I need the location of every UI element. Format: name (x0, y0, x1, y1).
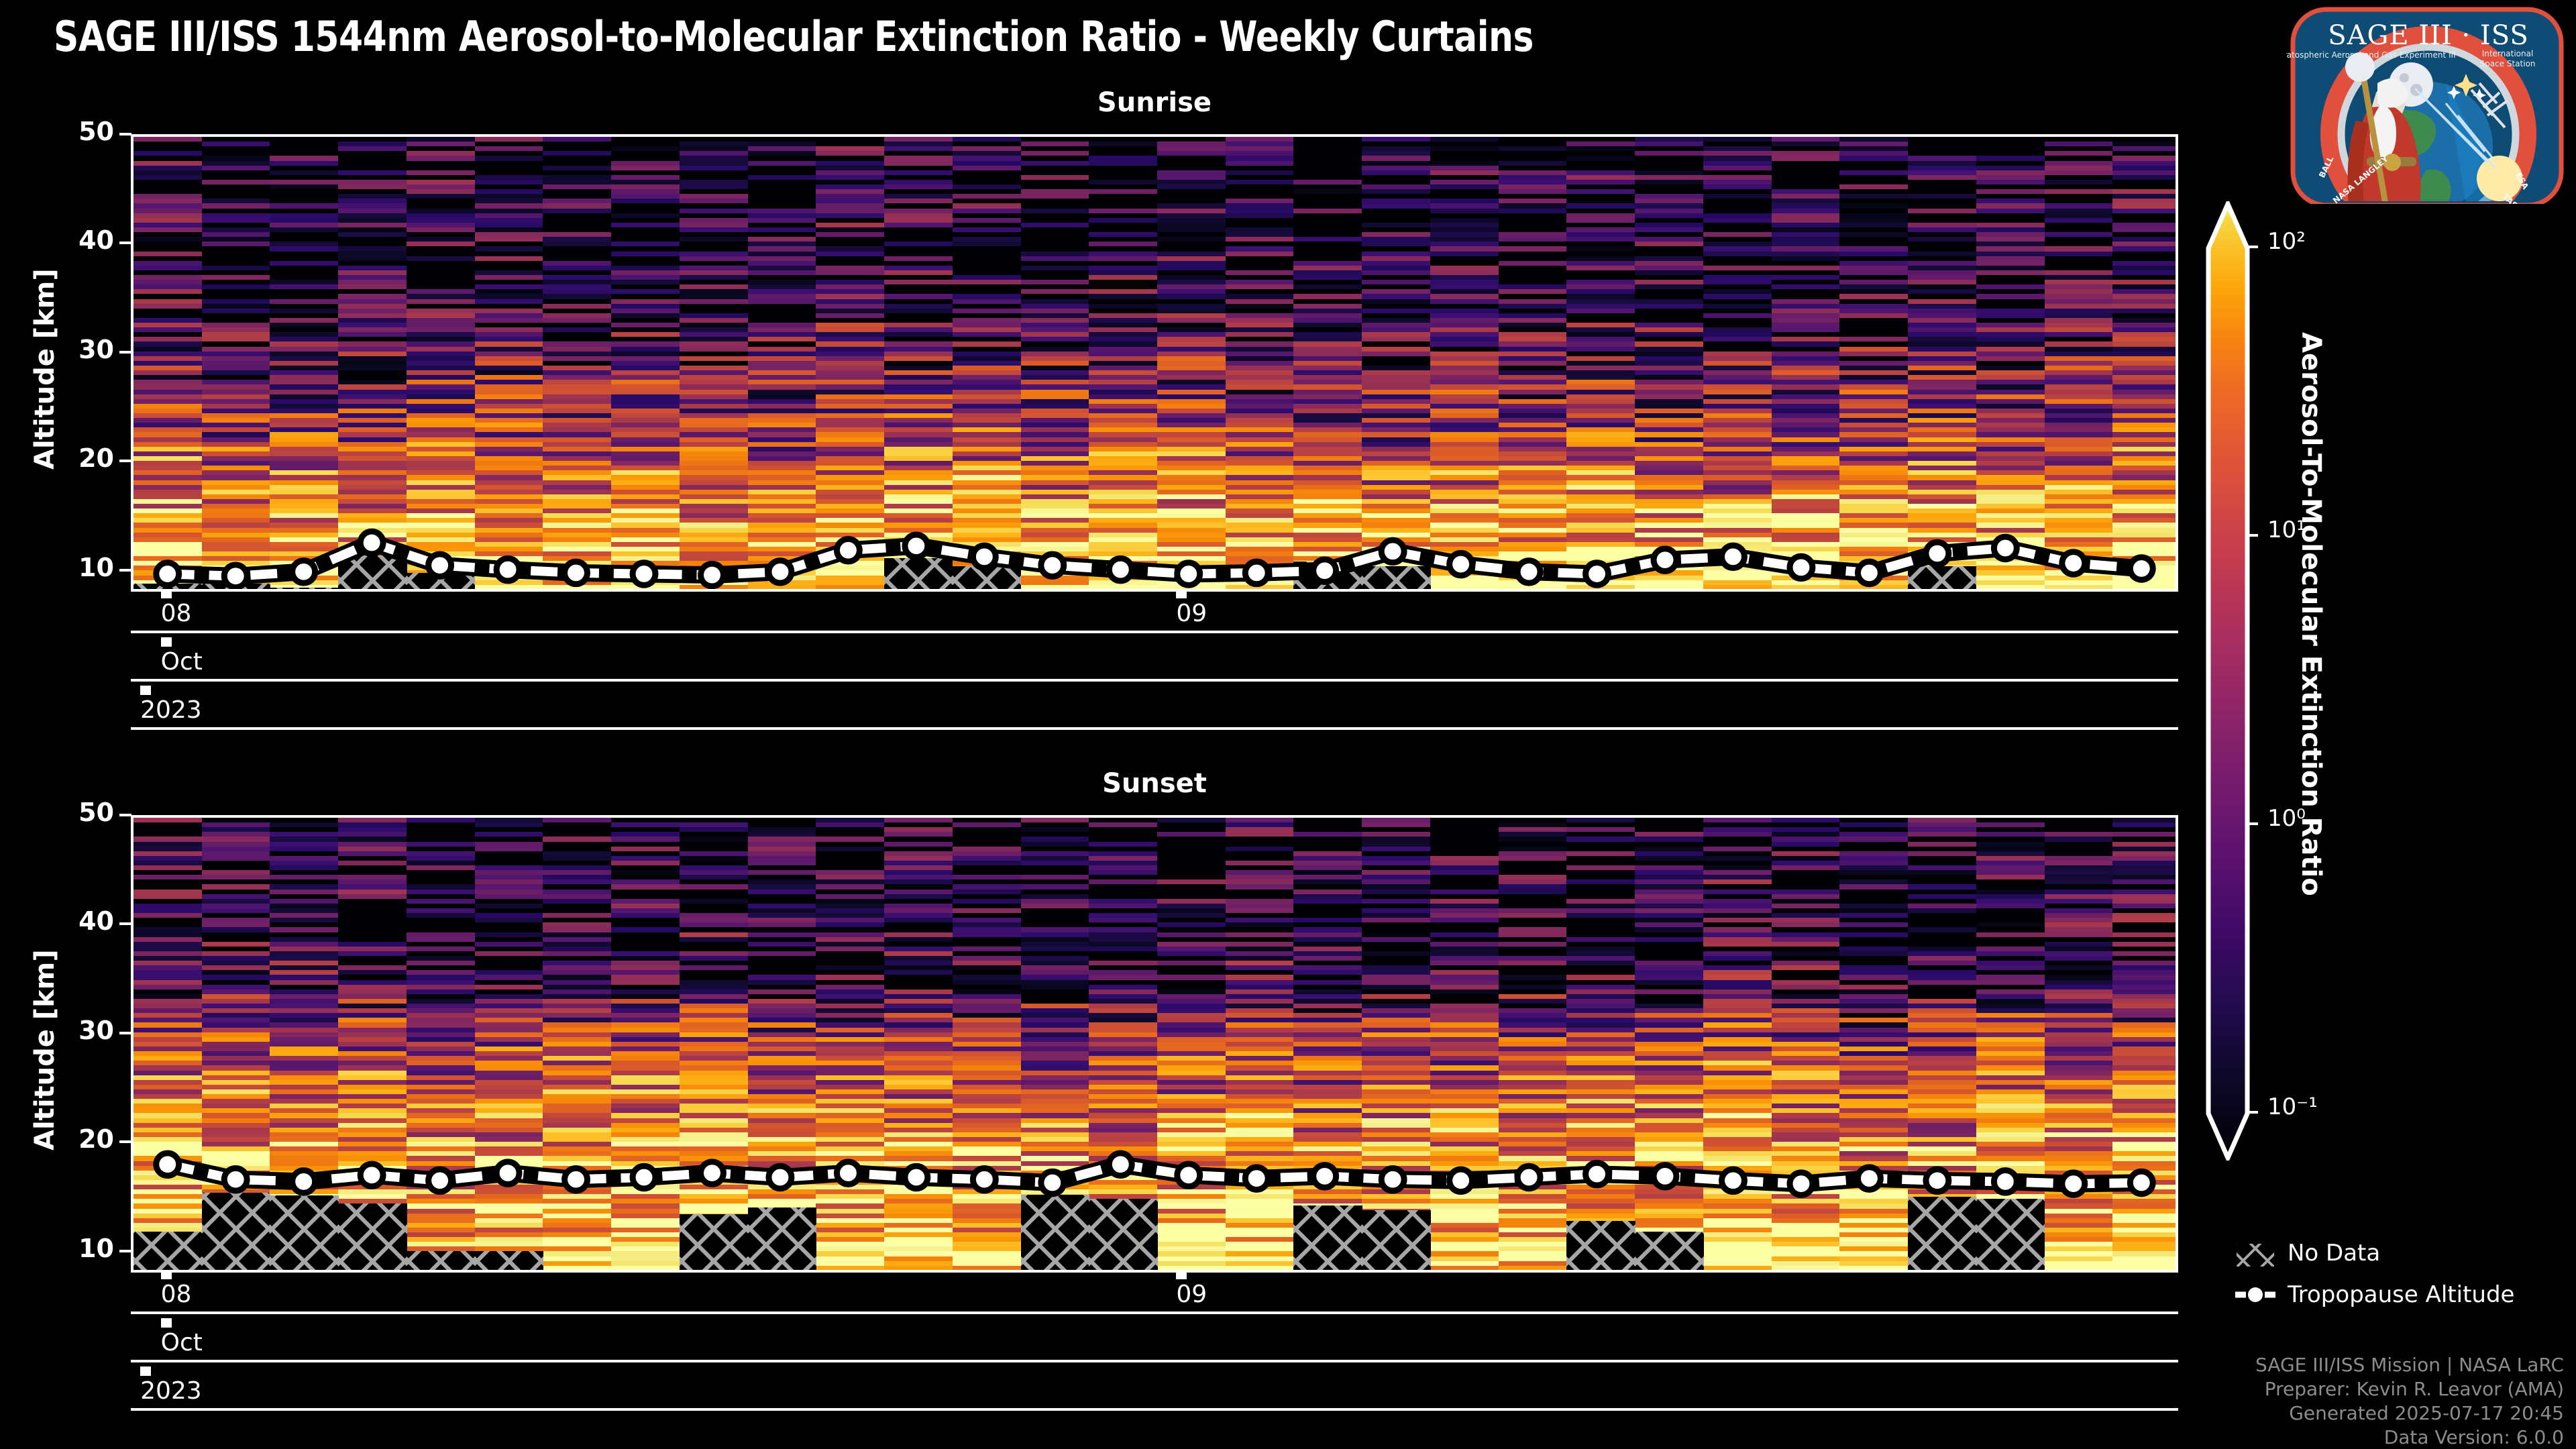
sage-iii-iss-logo: BALL NASA LANGLEY ESA TAS-I SAGE III · I… (2286, 3, 2568, 204)
heatmap-column (133, 137, 202, 589)
heatmap-column (1635, 137, 1703, 589)
heatmap-cell (407, 1271, 475, 1273)
no-data-block (407, 573, 475, 592)
heatmap-column (680, 137, 748, 589)
heatmap-column (816, 137, 884, 589)
heatmap-cell (2112, 590, 2178, 592)
heatmap-cell (953, 590, 1021, 592)
no-data-block (202, 584, 270, 592)
heatmap-column (1430, 137, 1499, 589)
heatmap-cell (611, 1266, 680, 1271)
heatmap-cell (748, 1271, 816, 1273)
figure-canvas: SAGE III/ISS 1544nm Aerosol-to-Molecular… (0, 0, 2576, 1449)
heatmap-column (1226, 137, 1294, 589)
heatmap-column (2112, 137, 2178, 589)
heatmap-cell (611, 590, 680, 592)
heatmap-cell (543, 1266, 611, 1271)
heatmap-column (1157, 818, 1226, 1270)
heatmap-cell (475, 590, 543, 592)
no-data-block (1362, 566, 1430, 592)
heatmap-column (953, 137, 1021, 589)
heatmap-column (1499, 818, 1567, 1270)
heatmap-column (1021, 137, 1089, 589)
heatmap-cell (1976, 590, 2045, 592)
heatmap-column (884, 818, 953, 1270)
heatmap-column (1089, 137, 1157, 589)
x-axis-tick-label-day: 09 (1176, 600, 1207, 627)
heatmap-cell (1976, 585, 2045, 590)
heatmap-cell (1226, 1266, 1294, 1271)
heatmap-cell (407, 590, 475, 592)
heatmap-cell (1566, 585, 1635, 590)
heatmap-column (475, 818, 543, 1270)
heatmap-column (1293, 818, 1362, 1270)
heatmap-cell (1226, 590, 1294, 592)
x-axis-tickmark (1176, 589, 1187, 598)
heatmap-cell (338, 1271, 407, 1273)
heatmap-cell (475, 1271, 543, 1273)
heatmap-column (543, 137, 611, 589)
heatmap-cell (1635, 585, 1703, 590)
heatmap-column (1703, 137, 1772, 589)
heatmap-cell (1908, 590, 1976, 592)
heatmap-cell (1089, 590, 1157, 592)
heatmap-cell (2112, 585, 2178, 590)
heatmap-column (407, 818, 475, 1270)
heatmap-column (270, 137, 338, 589)
no-data-block (270, 588, 338, 592)
heatmap-cell (202, 1271, 270, 1273)
heatmap-column (1293, 137, 1362, 589)
no-data-block (1293, 561, 1362, 592)
heatmap-cell (1635, 590, 1703, 592)
heatmap-cell (1703, 585, 1772, 590)
heatmap-cell (1362, 590, 1430, 592)
heatmap-column (680, 818, 748, 1270)
heatmap-cell (816, 585, 884, 590)
heatmap-cell (1839, 590, 1908, 592)
heatmap-column (1430, 818, 1499, 1270)
heatmap-cell (1226, 1271, 1294, 1273)
heatmap-cell (611, 1271, 680, 1273)
heatmap-cell (1157, 590, 1226, 592)
heatmap-cell (884, 590, 953, 592)
heatmap-cell (1293, 590, 1362, 592)
heatmap-cell (2045, 585, 2113, 590)
heatmap-column (338, 818, 407, 1270)
heatmap-cell (884, 1271, 953, 1273)
x-axis-level-rule (131, 631, 2178, 633)
heatmap-cell (1157, 1266, 1226, 1271)
heatmap-cell (953, 1271, 1021, 1273)
no-data-block (953, 566, 1021, 592)
heatmap-column (611, 137, 680, 589)
x-axis-level-rule (131, 679, 2178, 682)
heatmap-column (1908, 137, 1976, 589)
heatmap-column (1362, 818, 1430, 1270)
heatmap-column (748, 818, 816, 1270)
x-axis-tickmark (140, 686, 151, 695)
heatmap-sunset[interactable] (131, 815, 2178, 1273)
heatmap-cell (1430, 1266, 1499, 1271)
heatmap-cell (1499, 590, 1567, 592)
heatmap-cell (475, 585, 543, 590)
heatmap-cell (1430, 1271, 1499, 1273)
heatmap-cell (1089, 1271, 1157, 1273)
heatmap-column (884, 137, 953, 589)
heatmap-cell (1430, 585, 1499, 590)
heatmap-column (1566, 137, 1635, 589)
heatmap-cell (884, 1266, 953, 1271)
x-axis-tickmark (161, 589, 172, 598)
y-axis-label-sunrise: Altitude [km] (30, 268, 60, 470)
heatmap-column (1362, 137, 1430, 589)
heatmap-cell (1021, 585, 1089, 590)
x-axis-level-rule (131, 727, 2178, 730)
heatmap-column (2045, 137, 2113, 589)
heatmap-cell (953, 1266, 1021, 1271)
heatmap-cell (1157, 585, 1226, 590)
no-data-block (338, 555, 407, 592)
heatmap-cell (1499, 585, 1567, 590)
heatmap-cell (1772, 590, 1840, 592)
heatmap-column (953, 818, 1021, 1270)
y-axis-label-sunset: Altitude [km] (30, 949, 60, 1150)
heatmap-cell (1772, 585, 1840, 590)
no-data-block (1908, 566, 1976, 592)
heatmap-cell (1566, 590, 1635, 592)
heatmap-cell (680, 590, 748, 592)
heatmap-cell (1703, 590, 1772, 592)
heatmap-sunrise[interactable] (131, 134, 2178, 592)
panel-title-sunset: Sunset (131, 768, 2178, 799)
heatmap-cell (543, 1271, 611, 1273)
heatmap-cell (1089, 585, 1157, 590)
heatmap-column (202, 137, 270, 589)
heatmap-cell (816, 590, 884, 592)
panel-title-sunrise: Sunrise (131, 87, 2178, 118)
heatmap-cell (543, 590, 611, 592)
heatmap-column (475, 137, 543, 589)
x-axis-tick-label-day: 08 (161, 600, 192, 627)
heatmap-cell (1021, 1271, 1089, 1273)
heatmap-column (748, 137, 816, 589)
heatmap-cell (1362, 1271, 1430, 1273)
heatmap-cells-sunrise (133, 137, 2176, 589)
heatmap-column (1976, 137, 2045, 589)
heatmap-cell (1839, 585, 1908, 590)
heatmap-cell (748, 585, 816, 590)
x-axis-tick-label-month: Oct (161, 648, 203, 676)
heatmap-column (1499, 137, 1567, 589)
heatmap-column (133, 818, 202, 1270)
page-title: SAGE III/ISS 1544nm Aerosol-to-Molecular… (54, 12, 1738, 59)
heatmap-cell (611, 585, 680, 590)
heatmap-column (611, 818, 680, 1270)
heatmap-column (338, 137, 407, 589)
heatmap-cell (338, 590, 407, 592)
heatmap-cell (1293, 1271, 1362, 1273)
heatmap-cell (748, 590, 816, 592)
heatmap-cell (1226, 585, 1294, 590)
heatmap-cell (270, 590, 338, 592)
heatmap-cell (1430, 590, 1499, 592)
heatmap-cell (1021, 590, 1089, 592)
heatmap-column (407, 137, 475, 589)
x-axis-tick-label-year: 2023 (140, 696, 202, 724)
heatmap-cell (680, 1271, 748, 1273)
heatmap-column (1772, 137, 1840, 589)
heatmap-cell (816, 1266, 884, 1271)
heatmap-cell (2045, 590, 2113, 592)
heatmap-column (1839, 137, 1908, 589)
heatmap-column (543, 818, 611, 1270)
heatmap-cell (270, 1271, 338, 1273)
heatmap-cell (543, 585, 611, 590)
heatmap-cell (680, 585, 748, 590)
heatmap-column (816, 818, 884, 1270)
heatmap-column (1226, 818, 1294, 1270)
no-data-block (884, 558, 953, 592)
heatmap-cell (816, 1271, 884, 1273)
heatmap-cell (202, 590, 270, 592)
heatmap-column (1157, 137, 1226, 589)
heatmap-cell (1157, 1271, 1226, 1273)
x-axis-tickmark (161, 637, 172, 647)
